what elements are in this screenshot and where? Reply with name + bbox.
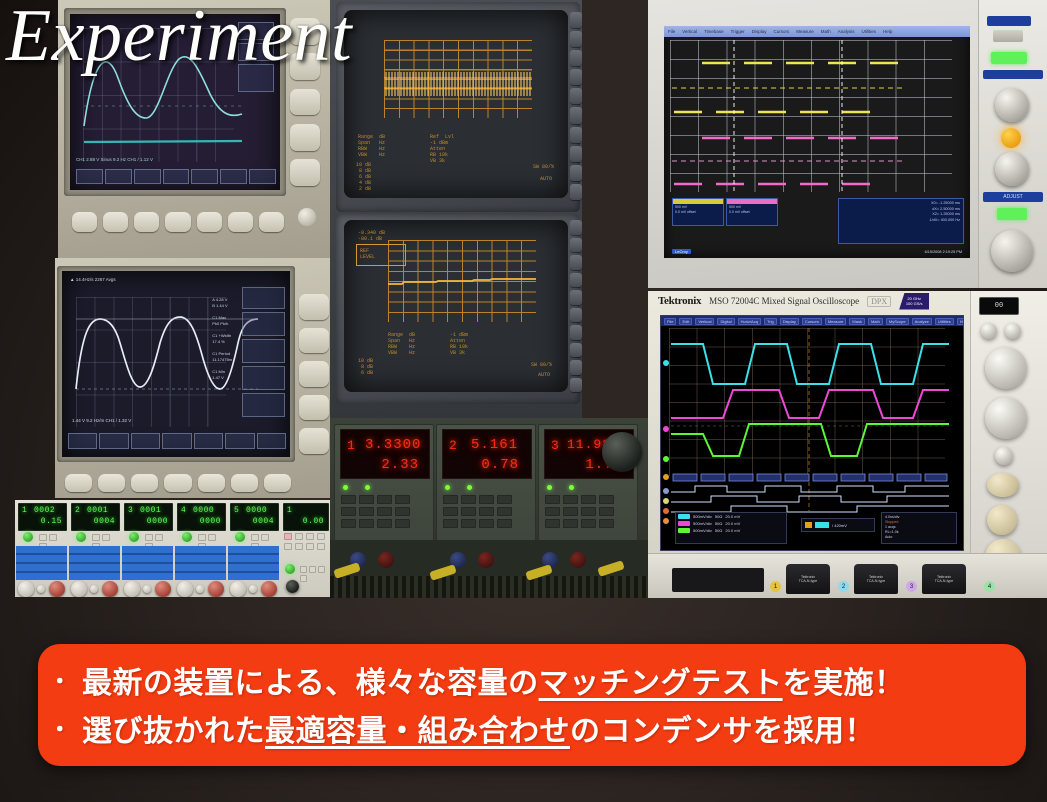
psu-output-button-5[interactable] bbox=[235, 532, 245, 542]
crt-sidekeys-lower[interactable] bbox=[570, 220, 582, 392]
psu-knob-row-4[interactable] bbox=[175, 580, 226, 597]
lecroy-green-indicator bbox=[991, 52, 1027, 64]
callout-line-1-emphasis: マッチングテスト bbox=[539, 658, 783, 702]
led-id-3: 3 bbox=[551, 438, 560, 453]
psu-current-1: 0.15 bbox=[41, 517, 62, 526]
psu-controller-keys[interactable] bbox=[284, 533, 328, 550]
lecroy-logo: LeCroy bbox=[672, 249, 691, 254]
lecroy-lower-knob[interactable] bbox=[995, 152, 1029, 186]
tektronix-position-knob[interactable] bbox=[985, 397, 1027, 439]
tek-counter-value: 00 bbox=[995, 302, 1003, 310]
crt-left-block-lower: Range dB Span Hz RBW Hz VBW Hz bbox=[388, 332, 415, 356]
tektronix-model: MSO 72004C Mixed Signal Oscilloscope bbox=[709, 296, 859, 306]
scope-softkey-labels bbox=[238, 22, 274, 92]
lecroy-screen: File Vertical Timebase Trigger Display C… bbox=[664, 26, 970, 258]
crt-footer-lower: SW 80/% bbox=[531, 362, 552, 368]
psu-blue-panel-5 bbox=[228, 546, 279, 580]
psu-controller-keys-row2[interactable] bbox=[300, 566, 328, 582]
psu-current-3: 0000 bbox=[147, 517, 168, 526]
rack-side-gap bbox=[582, 0, 648, 424]
scope-bottom-keys[interactable] bbox=[72, 212, 284, 232]
psu-knob-row-5[interactable] bbox=[228, 580, 279, 597]
meter-led-1b bbox=[365, 485, 370, 490]
led-id-2: 2 bbox=[449, 438, 458, 453]
probe-3[interactable]: Tektronix TCA-N-type bbox=[922, 564, 966, 594]
tektronix-trigger-readout: / 420mV bbox=[801, 518, 875, 532]
probe-1[interactable]: Tektronix TCA-N-type bbox=[786, 564, 830, 594]
psu-current-2: 0004 bbox=[94, 517, 115, 526]
tektronix-probe-slot bbox=[672, 568, 764, 592]
psu-controller-id: 1 bbox=[287, 506, 292, 515]
tek-c1-value: 20.0 mV bbox=[725, 514, 740, 519]
dpx-badge: DPX bbox=[867, 296, 891, 307]
lecroy-top-blue-button[interactable] bbox=[987, 16, 1031, 26]
meter-led-2b bbox=[467, 485, 472, 490]
tektronix-horizontal-readout: 4.0ns/div Stopped 1 acqs RL=1.0k Auto bbox=[881, 512, 957, 544]
lecroy-run-indicator bbox=[997, 208, 1027, 220]
led-window-1: 1 3.3300 2.33 bbox=[340, 429, 430, 479]
tektronix-screen: File Edit Vertical Digital Horiz/Acq Tri… bbox=[660, 315, 964, 551]
psu-controller-knob[interactable] bbox=[286, 580, 299, 593]
psu-id-1: 1 bbox=[22, 506, 27, 515]
banana-jack-red-2[interactable] bbox=[478, 552, 494, 568]
scope-readout-line: CH1 2.88 V Sinus 9.2 Hz CH1 / 1.12 V bbox=[76, 157, 250, 164]
psu-controller-window: 1 0.00 bbox=[283, 503, 329, 531]
tektronix-logo: Tektronix bbox=[658, 295, 701, 307]
probe-2[interactable]: Tektronix TCA-N-type bbox=[854, 564, 898, 594]
psu-output-button-2[interactable] bbox=[76, 532, 86, 542]
tek-c2-value: 20.0 mV bbox=[725, 521, 740, 526]
psu-current-4: 0000 bbox=[200, 517, 221, 526]
psu-module-3: 3 0001 0000 bbox=[121, 500, 175, 597]
callout-box: ・ 最新の装置による、様々な容量の マッチングテスト を実施！ ・ 選び抜かれた… bbox=[38, 644, 1026, 766]
tek-c1-scale: 500mV/div bbox=[693, 514, 712, 519]
psu-id-5: 5 bbox=[234, 506, 239, 515]
tektronix-mini-knob[interactable] bbox=[995, 447, 1013, 465]
lecroy-section-bar bbox=[983, 70, 1043, 79]
lecroy-c1-label: 500 mV 0.0 mV offset bbox=[673, 204, 723, 215]
led-window-2: 2 5.161 0.78 bbox=[442, 429, 532, 479]
probe-3-label: Tektronix TCA-N-type bbox=[935, 575, 953, 584]
tek-channel-dot-d0[interactable] bbox=[663, 488, 669, 494]
led-secondary-2: 0.78 bbox=[481, 457, 519, 473]
tek-chip-c1: 500mV/div 50Ω 20.0 mV bbox=[676, 513, 786, 520]
tek-channel-dot-c3[interactable] bbox=[663, 456, 669, 462]
psu-voltage-1: 0002 bbox=[34, 506, 55, 515]
tek-c3-coupling: 50Ω bbox=[715, 528, 722, 533]
callout-line-1-pre: 最新の装置による、様々な容量の bbox=[82, 658, 539, 702]
psu-id-3: 3 bbox=[128, 506, 133, 515]
scope2-measurements: A 4.28 V B 1.44 V C1 Max Pk0 Pk/h C1 +Wi… bbox=[212, 297, 232, 381]
psu-module-1: 1 0002 0.15 bbox=[15, 500, 69, 597]
tek-c1-coupling: 50Ω bbox=[715, 514, 722, 519]
tek-trigger-source-chip bbox=[815, 522, 829, 528]
banana-jack-red-1[interactable] bbox=[378, 552, 394, 568]
probe-num-2[interactable]: 2 bbox=[838, 581, 849, 592]
scope2-softkey-labels[interactable] bbox=[242, 287, 285, 417]
scope-softkey-column[interactable] bbox=[290, 18, 320, 186]
led-secondary-1: 2.33 bbox=[381, 457, 419, 473]
crt-case-lower: -0.340 dB -80.1 dB REF LEVEL Range dB Sp… bbox=[336, 214, 580, 404]
scope-screen: CH1 2.88 V Sinus 9.2 Hz CH1 / 1.12 V bbox=[70, 14, 280, 190]
meter-buttons-2[interactable] bbox=[443, 495, 529, 528]
photo-amber-crt-rack: Range dB Span Hz RBW Hz VBW Hz Ref Lvl -… bbox=[330, 0, 648, 424]
crt-status-lower: 10 dB 8 dB 6 dB bbox=[358, 358, 373, 376]
meter-led-3a bbox=[547, 485, 552, 490]
callout-line-2-post: のコンデンサを採用！ bbox=[570, 706, 875, 750]
psu-voltage-4: 0000 bbox=[193, 506, 214, 515]
photo-banana-jacks bbox=[330, 540, 648, 598]
callout-bullet-2: ・ bbox=[38, 712, 82, 744]
psu-id-4: 4 bbox=[181, 506, 186, 515]
tek-c3-value: 20.0 mV bbox=[725, 528, 740, 533]
lecroy-adjust-label: ADJUST bbox=[1003, 194, 1022, 200]
callout-line-1: ・ 最新の装置による、様々な容量の マッチングテスト を実施！ bbox=[38, 658, 1026, 702]
tek-channel-dot-bus[interactable] bbox=[663, 474, 669, 480]
tektronix-multipurpose-knob-b[interactable] bbox=[987, 505, 1017, 535]
tek-c2-coupling: 50Ω bbox=[715, 521, 722, 526]
psu-voltage-3: 0001 bbox=[140, 506, 161, 515]
tektronix-probe-bay: Tektronix TCA-N-type 1 Tektronix TCA-N-t… bbox=[648, 553, 1047, 598]
scope-rotary-knob[interactable] bbox=[298, 208, 316, 226]
tek-channel-dot-c2[interactable] bbox=[663, 426, 669, 432]
tek-trigger-level: / 420mV bbox=[832, 523, 847, 528]
tek-auto-mode: Auto bbox=[885, 535, 953, 540]
crt-screen-lower: -0.340 dB -80.1 dB REF LEVEL Range dB Sp… bbox=[344, 220, 568, 392]
photo-tektronix-scope: Tektronix MSO 72004C Mixed Signal Oscill… bbox=[648, 291, 1047, 598]
psu-blue-panel-4 bbox=[175, 546, 226, 580]
psu-output-button-3[interactable] bbox=[129, 532, 139, 542]
crt-mode-lower: AUTO bbox=[538, 372, 550, 378]
crt-case-upper: Range dB Span Hz RBW Hz VBW Hz Ref Lvl -… bbox=[336, 2, 580, 212]
crt-right-block-lower: -1 dBm Atten RB 10k VB 3k bbox=[450, 332, 468, 356]
psu-module-2: 2 0001 0004 bbox=[68, 500, 122, 597]
tek-c3-scale: 500mV/div bbox=[693, 528, 712, 533]
psu-blue-panel-3 bbox=[122, 546, 173, 580]
callout-bullet-1: ・ bbox=[38, 664, 82, 696]
tek-channel-dot-d2[interactable] bbox=[663, 508, 669, 514]
tek-chip-c3: 500mV/div 50Ω 20.0 mV bbox=[676, 527, 786, 534]
tektronix-channel-readout: 500mV/div 50Ω 20.0 mV 500mV/div 50Ω 20.0… bbox=[675, 512, 787, 544]
meter-led-1a bbox=[343, 485, 348, 490]
test-lead-yellow-4 bbox=[597, 560, 625, 577]
photo-lecroy-scope: File Vertical Timebase Trigger Display C… bbox=[648, 0, 1047, 288]
tek-trigger-icon bbox=[805, 522, 812, 528]
led-primary-2: 5.161 bbox=[471, 437, 518, 453]
lecroy-c2-label: 500 mV 0.0 mV offset bbox=[727, 204, 777, 215]
lecroy-adjust-knob[interactable] bbox=[991, 230, 1033, 272]
lecroy-control-panel: ADJUST bbox=[978, 0, 1047, 288]
psu-led-window-1: 1 0002 0.15 bbox=[18, 503, 67, 531]
scope2-menu-strip[interactable] bbox=[68, 433, 286, 449]
psu-blue-panel-1 bbox=[16, 546, 67, 580]
psu-knob-row-3[interactable] bbox=[122, 580, 173, 597]
tek-channel-dot-d1[interactable] bbox=[663, 498, 669, 504]
callout-line-1-post: を実施！ bbox=[783, 658, 905, 702]
psu-led-window-5: 5 0000 0004 bbox=[230, 503, 279, 531]
tek-channel-dot-d3[interactable] bbox=[663, 518, 669, 524]
psu-voltage-5: 0000 bbox=[246, 506, 267, 515]
psu-led-window-2: 2 0001 0004 bbox=[71, 503, 120, 531]
callout-line-2-emphasis: 最適容量・組み合わせ bbox=[265, 706, 570, 750]
psu-output-button-1[interactable] bbox=[23, 532, 33, 542]
crt-right-block-upper: Ref Lvl -1 dBm Atten RB 10k VB 3k bbox=[430, 134, 454, 164]
probe-2-label: Tektronix TCA-N-type bbox=[867, 575, 885, 584]
scope2-screen: ▲ 14.4Hz/s 2267 Avgs A 4.28 V B 1.44 V C… bbox=[62, 271, 290, 457]
probe-num-3[interactable]: 3 bbox=[906, 581, 917, 592]
tektronix-multipurpose-knob-a[interactable] bbox=[987, 473, 1019, 497]
crt-mode-upper: AUTO bbox=[540, 176, 552, 182]
led-primary-1: 3.3300 bbox=[365, 437, 421, 453]
banana-jack-red-3[interactable] bbox=[570, 552, 586, 568]
crt-ref-box-lower: REF LEVEL bbox=[356, 244, 406, 266]
meter-led-2a bbox=[445, 485, 450, 490]
crt-status-upper: 10 dB 8 dB 6 dB 4 dB 2 dB bbox=[356, 162, 371, 192]
psu-blue-panel-2 bbox=[69, 546, 120, 580]
lecroy-cursor-readout: X0= -1.25000 ms dX= 2.50000 ms X2= 1.250… bbox=[838, 198, 964, 244]
probe-num-1[interactable]: 1 bbox=[770, 581, 781, 592]
meter-buttons-1[interactable] bbox=[341, 495, 427, 528]
tektronix-small-knob-2[interactable] bbox=[1005, 323, 1021, 339]
tek-channel-dot-c1[interactable] bbox=[663, 360, 669, 366]
psu-controller-value: 0.00 bbox=[303, 517, 324, 526]
lecroy-upper-knob[interactable] bbox=[995, 88, 1029, 122]
scope-readout: CH1 2.88 V Sinus 9.2 Hz CH1 / 1.12 V bbox=[76, 157, 153, 164]
meter-buttons-3[interactable] bbox=[545, 495, 631, 528]
psu-controller-module: 1 0.00 bbox=[280, 500, 330, 597]
psu-current-5: 0004 bbox=[253, 517, 274, 526]
probe-1-label: Tektronix TCA-N-type bbox=[799, 575, 817, 584]
photo-psu-rack: 1 0002 0.15 2 0001 0004 bbox=[15, 500, 330, 597]
led-id-1: 1 bbox=[347, 438, 356, 453]
slide-root: CH1 2.88 V Sinus 9.2 Hz CH1 / 1.12 V ▲ 1… bbox=[0, 0, 1047, 802]
crt-corner-label-lower: -0.340 dB -80.1 dB bbox=[358, 230, 385, 242]
lecroy-badge-c1[interactable]: 500 mV 0.0 mV offset bbox=[672, 198, 724, 226]
psu-controller-power-button[interactable] bbox=[285, 564, 295, 574]
tektronix-small-knob-1[interactable] bbox=[981, 323, 997, 339]
psu-module-5: 5 0000 0004 bbox=[227, 500, 281, 597]
spec-badge: 20 GHz100 GS/s bbox=[899, 293, 929, 310]
scope2-bottom-keys[interactable] bbox=[65, 474, 291, 492]
psu-voltage-2: 0001 bbox=[87, 506, 108, 515]
lecroy-invdx: 1/dX= 400.000 Hz bbox=[842, 218, 960, 224]
meter-led-3b bbox=[569, 485, 574, 490]
scope2-footer: 1.44 V 9.2 Hz/m CH1 / 1.32 V bbox=[72, 418, 256, 423]
psu-led-window-3: 3 0001 0000 bbox=[124, 503, 173, 531]
crt-left-block-upper: Range dB Span Hz RBW Hz VBW Hz bbox=[358, 134, 385, 158]
tek-c2-scale: 500mV/div bbox=[693, 521, 712, 526]
lecroy-amber-button[interactable] bbox=[1001, 128, 1021, 148]
psu-led-window-4: 4 0000 0000 bbox=[177, 503, 226, 531]
tektronix-scale-knob[interactable] bbox=[985, 347, 1027, 389]
psu-knob-row-2[interactable] bbox=[69, 580, 120, 597]
scope-menu-strip[interactable] bbox=[76, 169, 276, 184]
scope2-softkey-column[interactable] bbox=[299, 294, 329, 454]
psu-output-button-4[interactable] bbox=[182, 532, 192, 542]
tektronix-control-panel: 00 bbox=[970, 291, 1047, 598]
crt-sidekeys-upper[interactable] bbox=[570, 12, 582, 200]
psu-module-4: 4 0000 0000 bbox=[174, 500, 228, 597]
probe-num-4[interactable]: 4 bbox=[984, 581, 995, 592]
callout-line-2: ・ 選び抜かれた 最適容量・組み合わせ のコンデンサを採用！ bbox=[38, 706, 1026, 750]
lecroy-timestamp: 6/15/2008 2:19:25 PM bbox=[925, 250, 962, 254]
crt-screen-upper: Range dB Span Hz RBW Hz VBW Hz Ref Lvl -… bbox=[344, 10, 568, 198]
lecroy-gray-button[interactable] bbox=[993, 30, 1023, 42]
lecroy-adjust-bar: ADJUST bbox=[983, 192, 1043, 202]
photo-scope-top-left: CH1 2.88 V Sinus 9.2 Hz CH1 / 1.12 V bbox=[58, 0, 330, 262]
meter-rotary-knob[interactable] bbox=[602, 432, 642, 472]
tektronix-counter-display: 00 bbox=[979, 297, 1019, 315]
crt-footer-upper: SW 80/% bbox=[533, 164, 554, 170]
callout-line-2-pre: 選び抜かれた bbox=[82, 706, 265, 750]
photo-scope-bottom-left: ▲ 14.4Hz/s 2267 Avgs A 4.28 V B 1.44 V C… bbox=[55, 258, 337, 498]
tek-chip-c2: 500mV/div 50Ω 20.0 mV bbox=[676, 520, 786, 527]
psu-knob-row-1[interactable] bbox=[16, 580, 67, 597]
vent-grille bbox=[330, 576, 648, 598]
lecroy-badge-c2[interactable]: 500 mV 0.0 mV offset bbox=[726, 198, 778, 226]
psu-id-2: 2 bbox=[75, 506, 80, 515]
